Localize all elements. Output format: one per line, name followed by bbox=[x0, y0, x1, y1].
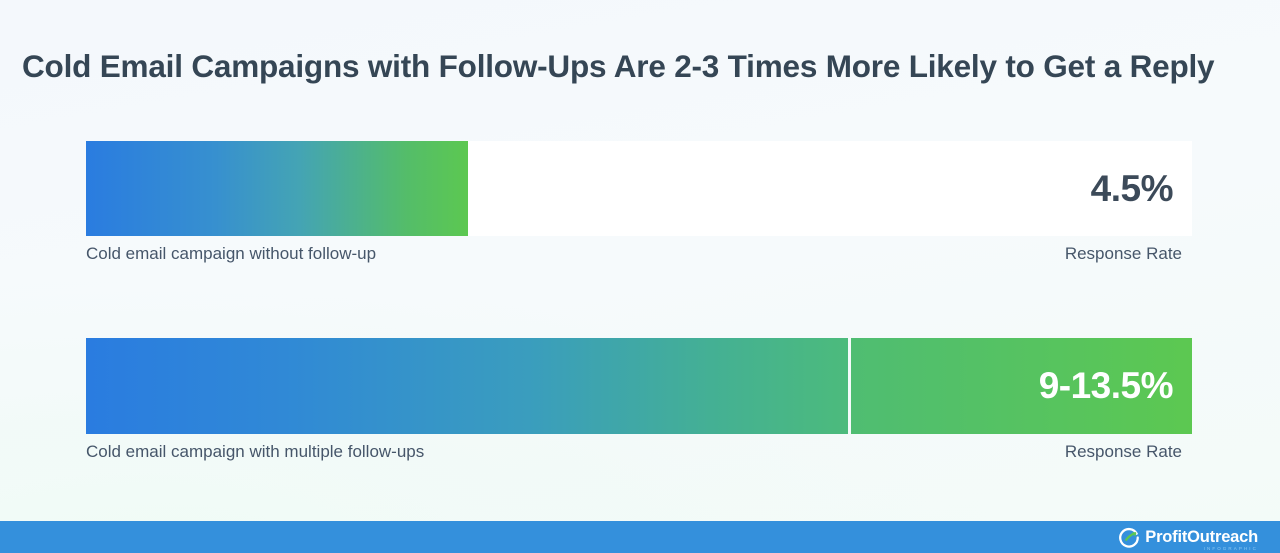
category-label: Cold email campaign without follow-up bbox=[86, 244, 376, 264]
chart-row: 4.5% Cold email campaign without follow-… bbox=[86, 141, 1192, 266]
page-title: Cold Email Campaigns with Follow-Ups Are… bbox=[22, 48, 1262, 85]
chart-row: 9-13.5% Cold email campaign with multipl… bbox=[86, 338, 1192, 464]
bar-chart: 4.5% Cold email campaign without follow-… bbox=[86, 130, 1192, 490]
metric-label: Response Rate bbox=[1065, 442, 1192, 462]
row-captions: Cold email campaign with multiple follow… bbox=[86, 440, 1192, 464]
brand-name: ProfitOutreach bbox=[1145, 528, 1258, 547]
bar-fill bbox=[86, 141, 468, 236]
brand-tagline: INFOGRAPHIC bbox=[1204, 546, 1258, 551]
row-captions: Cold email campaign without follow-up Re… bbox=[86, 242, 1192, 266]
bar-track: 4.5% bbox=[86, 141, 1192, 236]
bar-value-label: 9-13.5% bbox=[1039, 365, 1192, 407]
bar-value-label: 4.5% bbox=[468, 141, 1192, 236]
metric-label: Response Rate bbox=[1065, 244, 1192, 264]
category-label: Cold email campaign with multiple follow… bbox=[86, 442, 424, 462]
bar-fill-lower-bound bbox=[86, 338, 848, 434]
footer-bar: ProfitOutreach INFOGRAPHIC bbox=[0, 521, 1280, 553]
bar-track: 9-13.5% bbox=[86, 338, 1192, 434]
bar-fill-upper-bound: 9-13.5% bbox=[851, 338, 1192, 434]
circular-arrow-icon bbox=[1119, 527, 1140, 548]
